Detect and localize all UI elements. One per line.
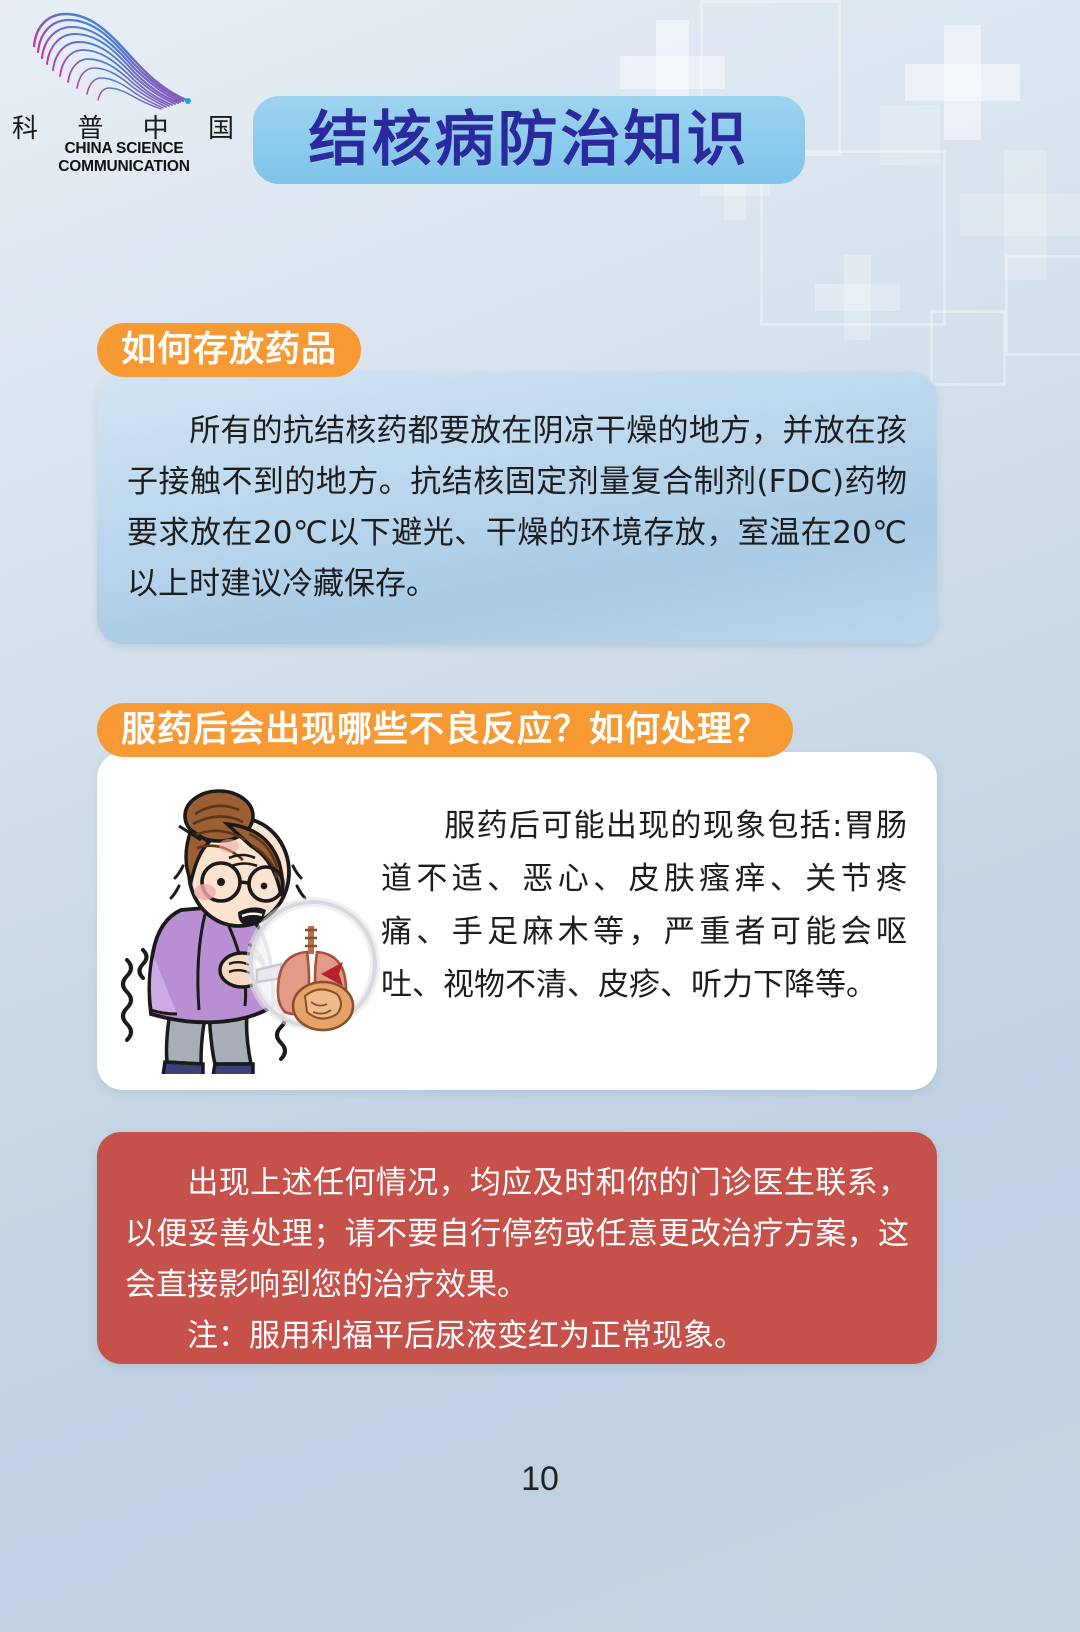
storage-card: 所有的抗结核药都要放在阴凉干燥的地方，并放在孩子接触不到的地方。抗结核固定剂量复…	[97, 372, 937, 644]
warning-paragraph-value: 出现上述任何情况，均应及时和你的门诊医生联系，以便妥善处理；请不要自行停药或任意…	[125, 1165, 909, 1303]
page-number: 10	[0, 1460, 1080, 1499]
storage-body-text: 所有的抗结核药都要放在阴凉干燥的地方，并放在孩子接触不到的地方。抗结核固定剂量复…	[127, 406, 907, 610]
brand-logo: 科 普 中 国 CHINA SCIENCE COMMUNICATION	[12, 8, 242, 158]
warning-card: 出现上述任何情况，均应及时和你的门诊医生联系，以便妥善处理；请不要自行停药或任意…	[97, 1132, 937, 1364]
cross-decor-icon	[815, 255, 900, 340]
page-title-banner: 结核病防治知识	[253, 96, 805, 184]
storage-body-value: 所有的抗结核药都要放在阴凉干燥的地方，并放在孩子接触不到的地方。抗结核固定剂量复…	[127, 413, 907, 602]
square-decor	[930, 310, 1006, 386]
elderly-woman-with-cane-illustration	[109, 774, 381, 1074]
square-decor	[1005, 255, 1080, 356]
page-title: 结核病防治知识	[309, 110, 750, 170]
adverse-reactions-text-column: 服药后可能出现的现象包括:胃肠道不适、恶心、皮肤瘙痒、关节疼痛、手足麻木等，严重…	[381, 752, 937, 1012]
logo-english-name: CHINA SCIENCE COMMUNICATION	[12, 140, 236, 176]
kepu-china-swoosh-logo-icon	[22, 8, 202, 113]
cross-decor-icon	[960, 150, 1080, 280]
section-badge-adverse-reactions: 服药后会出现哪些不良反应？如何处理？	[97, 703, 793, 757]
elderly-woman-illustration-icon	[109, 774, 381, 1074]
warning-note-value: 注：服用利福平后尿液变红为正常现象。	[187, 1318, 745, 1354]
adverse-reactions-body-value: 服药后可能出现的现象包括:胃肠道不适、恶心、皮肤瘙痒、关节疼痛、手足麻木等，严重…	[381, 808, 907, 1003]
adverse-reactions-body-text: 服药后可能出现的现象包括:胃肠道不适、恶心、皮肤瘙痒、关节疼痛、手足麻木等，严重…	[381, 800, 907, 1012]
warning-paragraph: 出现上述任何情况，均应及时和你的门诊医生联系，以便妥善处理；请不要自行停药或任意…	[125, 1158, 909, 1311]
section-badge-label: 服药后会出现哪些不良反应？如何处理？	[121, 713, 769, 748]
section-badge-storage: 如何存放药品	[97, 323, 361, 377]
section-badge-label: 如何存放药品	[121, 333, 337, 368]
square-decor	[880, 105, 940, 165]
cross-decor-icon	[905, 25, 1020, 140]
adverse-reactions-card: 服药后可能出现的现象包括:胃肠道不适、恶心、皮肤瘙痒、关节疼痛、手足麻木等，严重…	[97, 752, 937, 1090]
warning-note: 注：服用利福平后尿液变红为正常现象。	[125, 1311, 909, 1362]
poster-page: 科 普 中 国 CHINA SCIENCE COMMUNICATION 结核病防…	[0, 0, 1080, 1632]
